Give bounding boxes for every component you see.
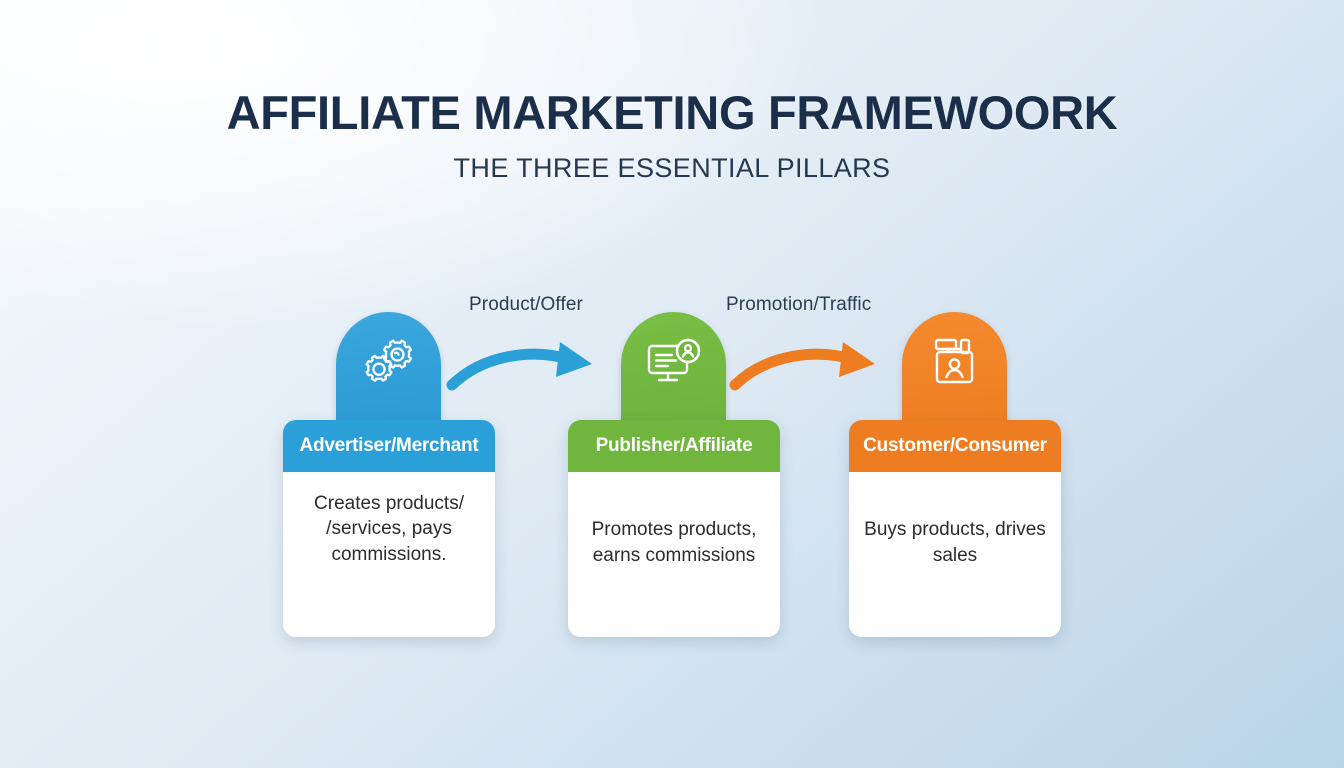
pillar-arch-publisher [621,312,726,430]
card-publisher[interactable]: Publisher/Affiliate Promotes products, e… [568,420,780,637]
card-title-advertiser: Advertiser/Merchant [283,420,495,472]
card-description-customer: Buys products, drives sales [849,472,1061,637]
id-badge-person-icon [902,336,1007,388]
card-title-publisher: Publisher/Affiliate [568,420,780,472]
card-description-advertiser: Creates products/ /services, pays commis… [283,472,495,637]
diagram-stage: Product/Offer Promotion/Traffic [0,0,1344,768]
monitor-badge-icon [621,336,726,388]
arrow-label-product-offer: Product/Offer [469,294,583,316]
card-description-publisher: Promotes products, earns commissions [568,472,780,637]
arrow-product-offer [444,330,604,400]
card-advertiser[interactable]: Advertiser/Merchant Creates products/ /s… [283,420,495,637]
card-customer[interactable]: Customer/Consumer Buys products, drives … [849,420,1061,637]
arrow-promotion-traffic [727,330,887,400]
pillar-arch-advertiser [336,312,441,430]
arrow-label-promotion-traffic: Promotion/Traffic [726,294,871,316]
card-title-customer: Customer/Consumer [849,420,1061,472]
gears-icon [336,336,441,388]
pillar-arch-customer [902,312,1007,430]
